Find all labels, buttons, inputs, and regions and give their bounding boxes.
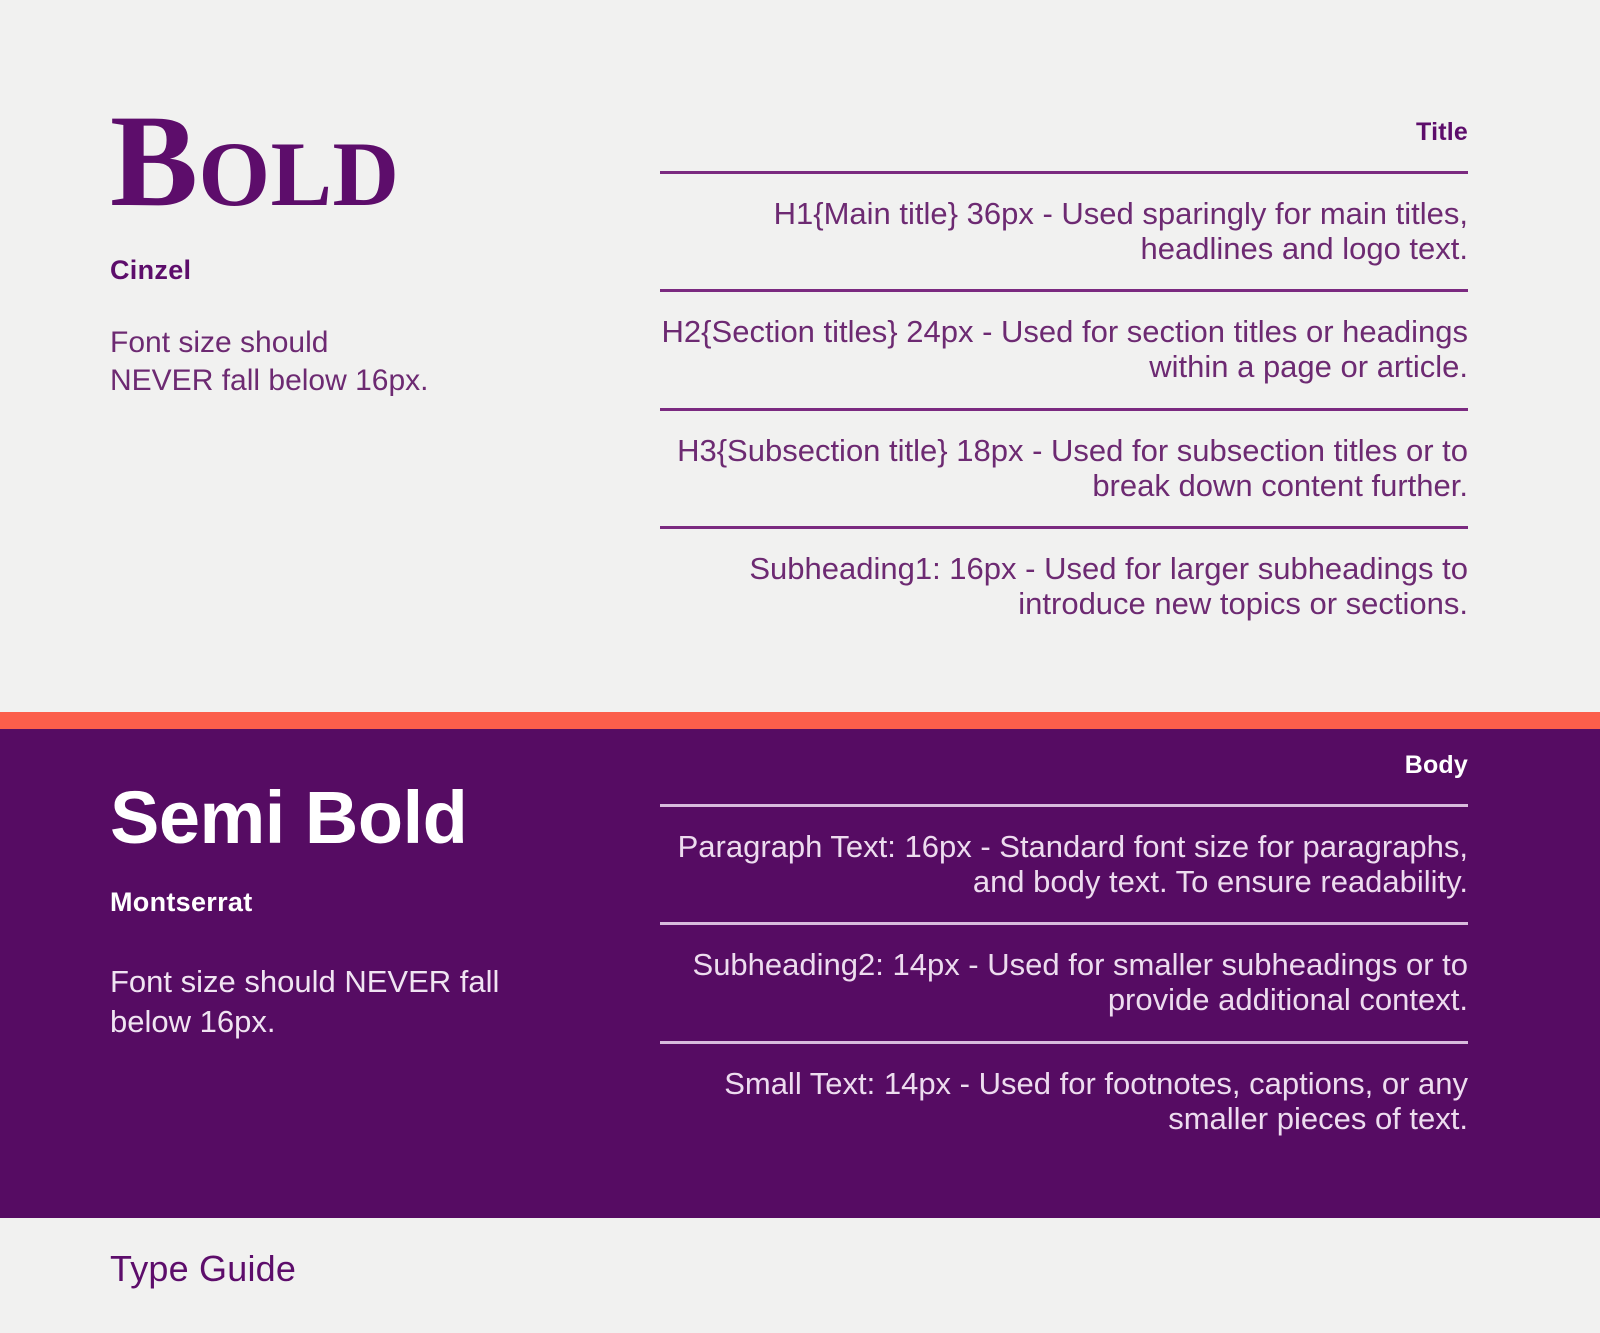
title-minimum-size-note: Font size should NEVER fall below 16px. — [110, 324, 440, 401]
title-font-specimen: Bold — [110, 95, 660, 227]
accent-divider-bar — [0, 712, 1600, 729]
spec-item-h1: H1{Main title} 36px - Used sparingly for… — [660, 174, 1468, 289]
body-minimum-size-note: Font size should NEVER fall below 16px. — [110, 962, 530, 1041]
spec-item-paragraph-text: Paragraph Text: 16px - Standard font siz… — [660, 807, 1468, 922]
body-section-left-column: Semi Bold Montserrat Font size should NE… — [0, 729, 660, 1218]
title-section-left-column: Bold Cinzel Font size should NEVER fall … — [0, 0, 660, 712]
footer-title: Type Guide — [110, 1248, 296, 1290]
body-spec-list: Paragraph Text: 16px - Standard font siz… — [660, 804, 1468, 1159]
body-type-section: Semi Bold Montserrat Font size should NE… — [0, 729, 1600, 1218]
spec-item-subheading2: Subheading2: 14px - Used for smaller sub… — [660, 925, 1468, 1040]
spec-item-h2: H2{Section titles} 24px - Used for secti… — [660, 292, 1468, 407]
type-guide-page: Bold Cinzel Font size should NEVER fall … — [0, 0, 1600, 1333]
title-section-right-column: Title H1{Main title} 36px - Used sparing… — [660, 0, 1600, 712]
title-type-section: Bold Cinzel Font size should NEVER fall … — [0, 0, 1600, 712]
body-font-family-name: Montserrat — [110, 887, 660, 918]
spec-item-h3: H3{Subsection title} 18px - Used for sub… — [660, 411, 1468, 526]
title-spec-list: H1{Main title} 36px - Used sparingly for… — [660, 171, 1468, 645]
body-column-label: Body — [660, 751, 1468, 780]
spec-item-small-text: Small Text: 14px - Used for footnotes, c… — [660, 1044, 1468, 1159]
spec-item-subheading1: Subheading1: 16px - Used for larger subh… — [660, 529, 1468, 644]
body-section-right-column: Body Paragraph Text: 16px - Standard fon… — [660, 729, 1600, 1218]
body-font-specimen: Semi Bold — [110, 781, 660, 855]
title-column-label: Title — [660, 118, 1468, 147]
title-font-family-name: Cinzel — [110, 255, 660, 286]
page-footer: Type Guide — [0, 1218, 1600, 1333]
